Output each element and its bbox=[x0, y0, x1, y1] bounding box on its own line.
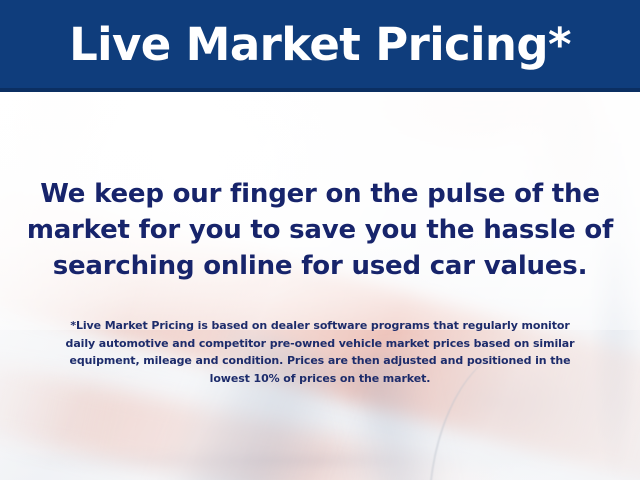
lede-line-3: searching online for used car values. bbox=[24, 248, 616, 284]
header-band: Live Market Pricing* bbox=[0, 0, 640, 92]
page-title: Live Market Pricing* bbox=[69, 22, 571, 67]
disclaimer-line-2: daily automotive and competitor pre-owne… bbox=[28, 335, 612, 353]
disclaimer-line-3: equipment, mileage and condition. Prices… bbox=[28, 352, 612, 370]
content-area: We keep our finger on the pulse of the m… bbox=[0, 92, 640, 480]
disclaimer-line-4: lowest 10% of prices on the market. bbox=[28, 370, 612, 388]
disclaimer-paragraph: *Live Market Pricing is based on dealer … bbox=[28, 317, 612, 387]
lede-line-1: We keep our finger on the pulse of the bbox=[24, 176, 616, 212]
lede-line-2: market for you to save you the hassle of bbox=[24, 212, 616, 248]
live-market-pricing-banner: Live Market Pricing* We keep our finger … bbox=[0, 0, 640, 480]
lede-paragraph: We keep our finger on the pulse of the m… bbox=[24, 176, 616, 284]
disclaimer-line-1: *Live Market Pricing is based on dealer … bbox=[28, 317, 612, 335]
